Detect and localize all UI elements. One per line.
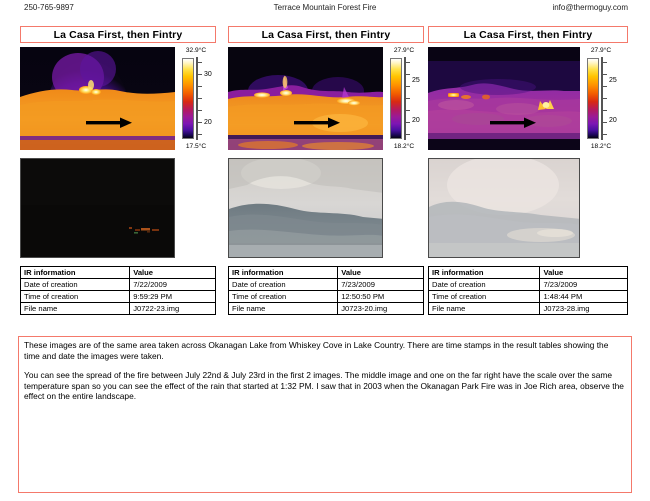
ir-panel-1: 32.9°C 30 20 17.5°C [20,47,216,150]
table-row: File name J0722-23.img [21,303,216,315]
table-row: File name J0723-20.img [229,303,424,315]
colorbar-max-label-3: 27.9°C [580,47,622,54]
column-title-box-1: La Casa First, then Fintry [20,26,216,43]
header-email: info@thermoguy.com [552,3,628,12]
row-value: 7/23/2009 [338,279,424,291]
row-value: J0723-20.img [338,303,424,315]
colorbar-tick-label-2b: 20 [412,117,420,124]
colorbar-tick [196,86,202,87]
thermal-image-3 [428,47,580,150]
row-value: 12:50:50 PM [338,291,424,303]
row-label: Time of creation [429,291,540,303]
colorbar-min-label-3: 18.2°C [580,143,622,150]
photo-render-2 [229,159,383,258]
row-value: 9:59:29 PM [130,291,216,303]
table-header-value: Value [338,267,424,279]
colorbar-tick [196,122,202,123]
row-value: 1:48:44 PM [540,291,628,303]
row-value: J0722-23.img [130,303,216,315]
colorbar-min-label-1: 17.5°C [175,143,217,150]
report-column-2: La Casa First, then Fintry [228,26,424,315]
row-value: 7/23/2009 [540,279,628,291]
table-header-value: Value [540,267,628,279]
colorbar-gradient-2 [390,58,402,139]
notes-box: These images are of the same area taken … [18,336,632,493]
colorbar-tick [601,122,607,123]
row-value: 7/22/2009 [130,279,216,291]
colorbar-tick [196,134,202,135]
table-row: Time of creation 9:59:29 PM [21,291,216,303]
visible-photo-3 [428,158,580,258]
row-label: Date of creation [229,279,338,291]
table-header-key: IR information [429,267,540,279]
colorbar-tick-label-3a: 25 [609,77,617,84]
visible-photo-2 [228,158,383,258]
colorbar-tick-label-2a: 25 [412,77,420,84]
row-label: Date of creation [21,279,130,291]
row-label: File name [21,303,130,315]
colorbar-tick [196,74,202,75]
ir-panel-3: 27.9°C 25 20 18.2°C [428,47,628,150]
colorbar-gradient-3 [587,58,599,139]
notes-paragraph-2: You can see the spread of the fire betwe… [24,370,626,402]
colorbar-tick [601,110,607,111]
colorbar-tick [404,98,410,99]
table-header-row: IR information Value [229,267,424,279]
colorbar-tick-label-1a: 30 [204,71,212,78]
colorbar-3: 27.9°C 25 20 18.2°C [583,47,628,150]
photo-render-3 [429,159,580,258]
table-row: Date of creation 7/23/2009 [229,279,424,291]
colorbar-tick-label-3b: 20 [609,117,617,124]
colorbar-tick [196,98,202,99]
table-row: File name J0723-28.img [429,303,628,315]
table-header-value: Value [130,267,216,279]
colorbar-tick [601,86,607,87]
colorbar-tick [404,86,410,87]
thermal-render-3 [428,47,580,150]
row-value: J0723-28.img [540,303,628,315]
row-label: File name [229,303,338,315]
thermal-image-2 [228,47,383,150]
thermal-render-2 [228,47,383,150]
column-title-box-2: La Casa First, then Fintry [228,26,424,43]
thermal-image-1 [20,47,175,150]
colorbar-min-label-2: 18.2°C [383,143,425,150]
colorbar-tick [196,62,202,63]
notes-paragraph-1: These images are of the same area taken … [24,340,626,361]
table-header-row: IR information Value [21,267,216,279]
colorbar-tick [404,122,410,123]
table-row: Time of creation 1:48:44 PM [429,291,628,303]
page-header: 250-765-9897 Terrace Mountain Forest Fir… [0,3,650,17]
colorbar-gradient-1 [182,58,194,139]
row-label: File name [429,303,540,315]
ir-info-table-1: IR information Value Date of creation 7/… [20,266,216,315]
colorbar-tick [601,98,607,99]
colorbar-2: 27.9°C 25 20 18.2°C [386,47,426,150]
column-title-box-3: La Casa First, then Fintry [428,26,628,43]
row-label: Date of creation [429,279,540,291]
report-page: 250-765-9897 Terrace Mountain Forest Fir… [0,0,650,501]
colorbar-max-label-2: 27.9°C [383,47,425,54]
table-header-row: IR information Value [429,267,628,279]
thermal-render-1 [20,47,175,150]
table-row: Date of creation 7/22/2009 [21,279,216,291]
ir-info-table-3: IR information Value Date of creation 7/… [428,266,628,315]
colorbar-tick [404,74,410,75]
colorbar-max-label-1: 32.9°C [175,47,217,54]
visible-photo-1 [20,158,175,258]
colorbar-tick [404,62,410,63]
colorbar-tick [404,110,410,111]
report-column-1: La Casa First, then Fintry [20,26,216,315]
colorbar-tick [601,74,607,75]
colorbar-tick [601,134,607,135]
table-header-key: IR information [229,267,338,279]
table-row: Date of creation 7/23/2009 [429,279,628,291]
ir-panel-2: 27.9°C 25 20 18.2°C [228,47,424,150]
colorbar-tick [601,62,607,63]
photo-render-1 [21,159,175,258]
colorbar-1: 32.9°C 30 20 17.5°C [178,47,218,150]
table-row: Time of creation 12:50:50 PM [229,291,424,303]
row-label: Time of creation [229,291,338,303]
row-label: Time of creation [21,291,130,303]
colorbar-tick [196,110,202,111]
report-column-3: La Casa First, then Fintry [428,26,628,315]
table-header-key: IR information [21,267,130,279]
ir-info-table-2: IR information Value Date of creation 7/… [228,266,424,315]
colorbar-tick-label-1b: 20 [204,119,212,126]
colorbar-tick [404,134,410,135]
